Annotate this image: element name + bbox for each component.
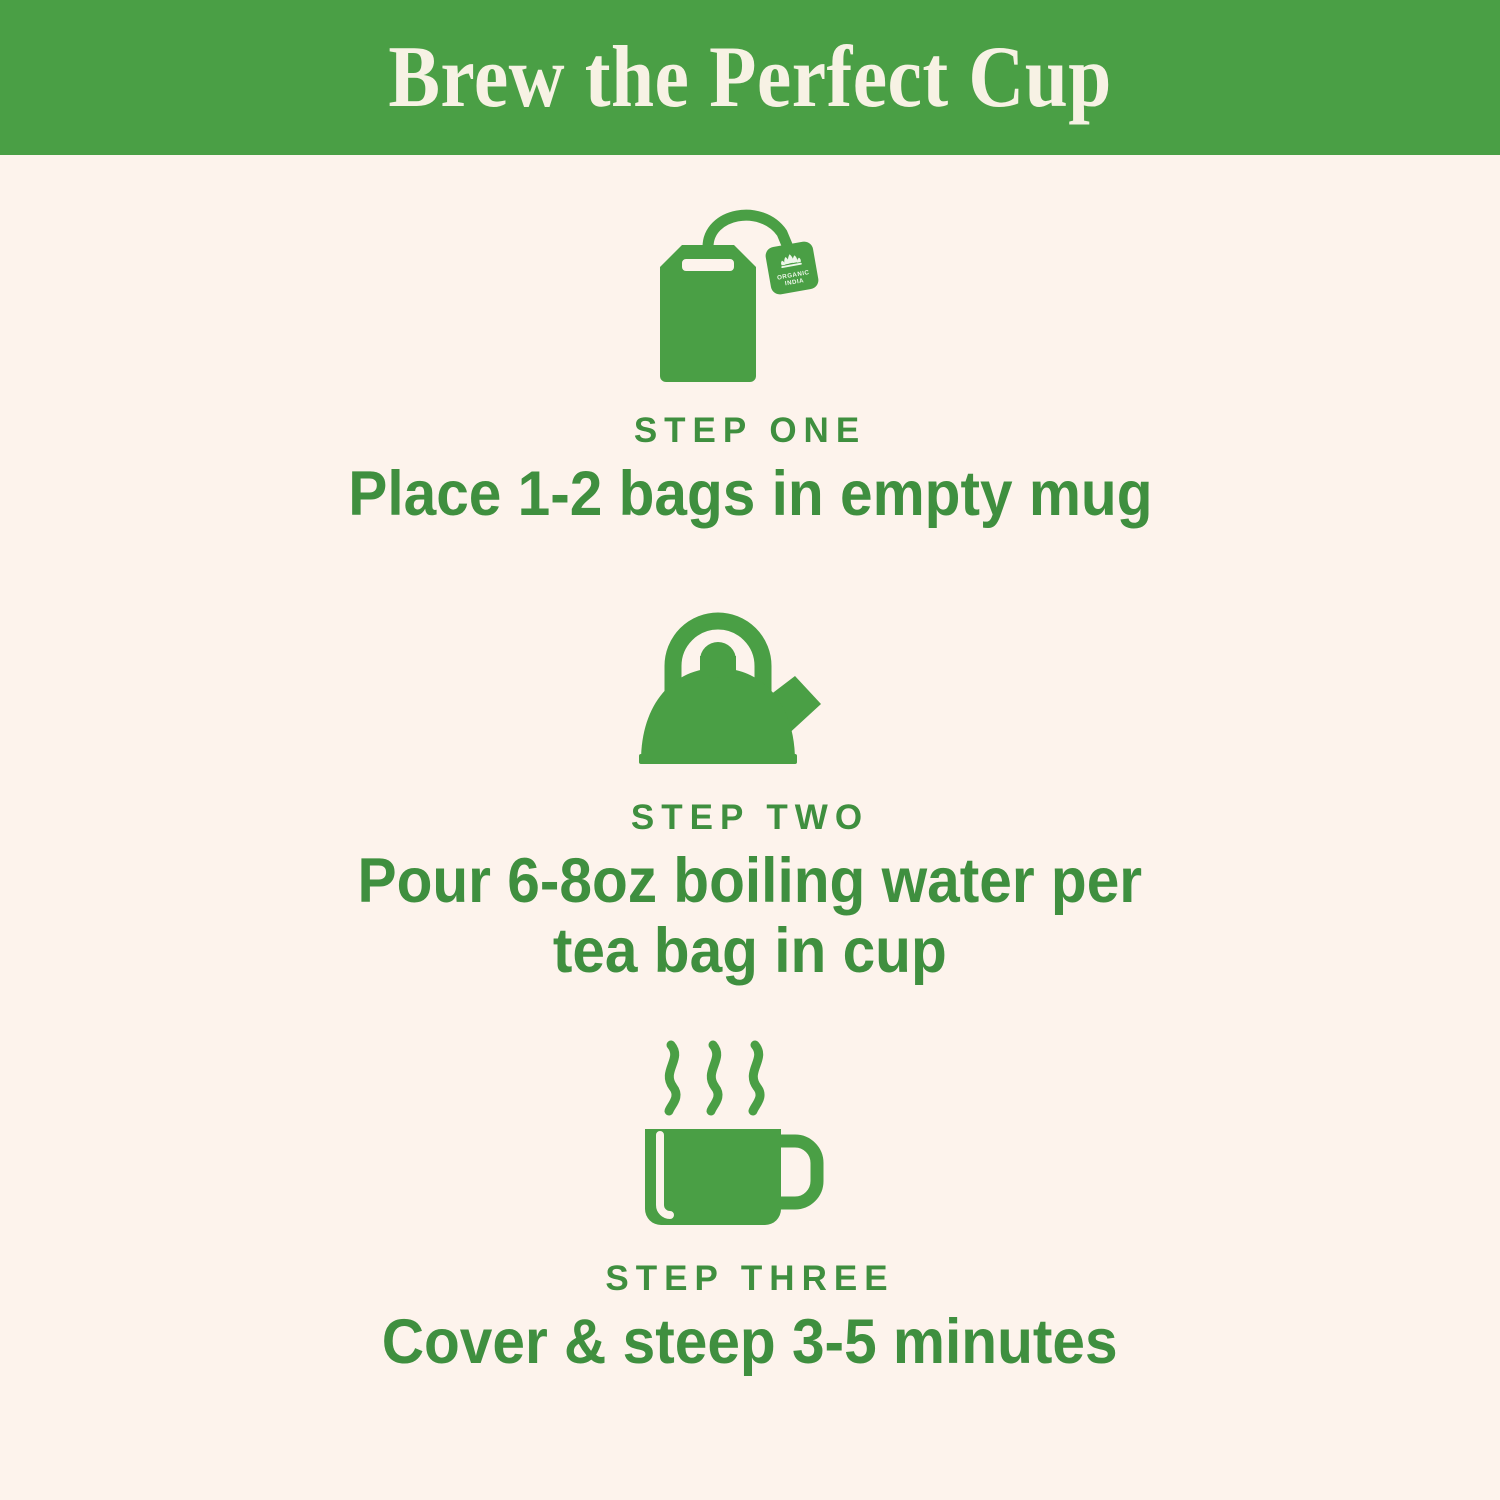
steam-lines: [669, 1045, 760, 1111]
step-three-label: STEP THREE: [605, 1259, 894, 1299]
step-two-description: Pour 6-8oz boiling water per tea bag in …: [358, 846, 1143, 987]
tea-bag-icon: ORGANIC INDIA: [635, 195, 865, 385]
step-one: ORGANIC INDIA STEP ONE Place 1-2 bags in…: [0, 195, 1500, 530]
step-three-description: Cover & steep 3-5 minutes: [382, 1307, 1118, 1378]
brewing-instructions-page: Brew the Perfect Cup: [0, 0, 1500, 1500]
steps-list: ORGANIC INDIA STEP ONE Place 1-2 bags in…: [0, 155, 1500, 1500]
steaming-mug-icon: [635, 1033, 865, 1233]
header-banner: Brew the Perfect Cup: [0, 0, 1500, 155]
step-three-icon-wrap: [635, 1033, 865, 1233]
step-three: STEP THREE Cover & steep 3-5 minutes: [0, 1033, 1500, 1378]
step-two-icon-wrap: [635, 604, 865, 772]
page-title: Brew the Perfect Cup: [388, 34, 1111, 122]
step-two-label: STEP TWO: [631, 798, 869, 838]
step-one-icon-wrap: ORGANIC INDIA: [635, 195, 865, 385]
step-two: STEP TWO Pour 6-8oz boiling water per te…: [0, 604, 1500, 987]
step-one-description: Place 1-2 bags in empty mug: [348, 459, 1152, 530]
step-one-label: STEP ONE: [634, 411, 866, 451]
kettle-icon: [635, 604, 865, 772]
